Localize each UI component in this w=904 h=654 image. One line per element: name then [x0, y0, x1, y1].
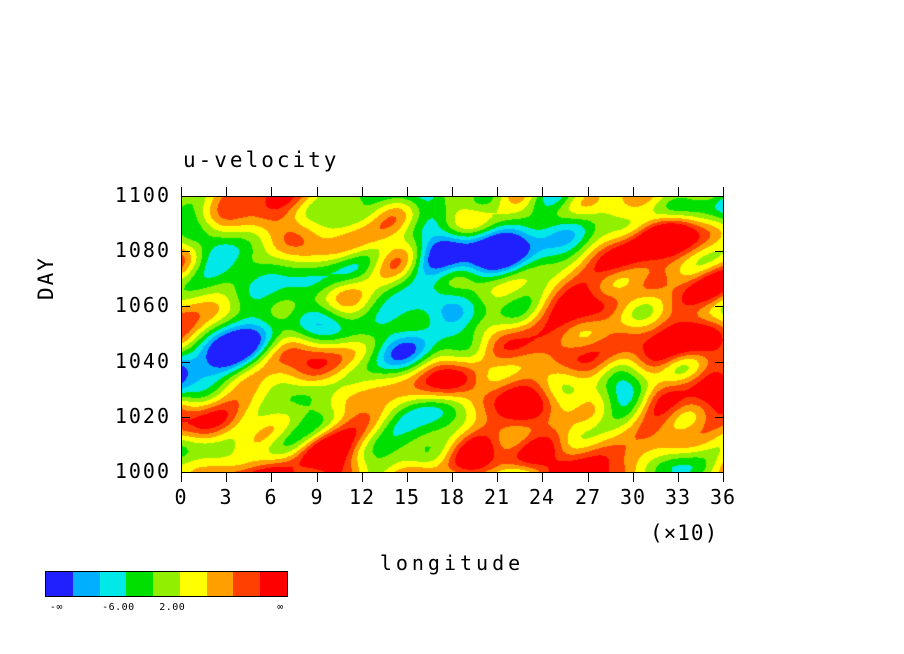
x-tick-top [723, 187, 724, 196]
colorbar-swatch [207, 572, 234, 596]
y-tick-label: 1060 [81, 293, 171, 317]
x-tick-bottom [362, 473, 363, 482]
y-tick-label: 1000 [81, 459, 171, 483]
y-tick-right [715, 472, 724, 473]
x-tick-bottom [317, 473, 318, 482]
y-tick-label: 1080 [81, 238, 171, 262]
colorbar-swatch [233, 572, 260, 596]
colorbar-swatch [260, 572, 287, 596]
x-tick-top [407, 187, 408, 196]
y-tick-left [181, 417, 190, 418]
y-tick-label: 1020 [81, 404, 171, 428]
x-tick-top [678, 187, 679, 196]
x-tick-top [497, 187, 498, 196]
x-tick-bottom [452, 473, 453, 482]
y-tick-right [715, 417, 724, 418]
y-tick-label: 1040 [81, 349, 171, 373]
y-tick-right [715, 196, 724, 197]
x-tick-label: 36 [693, 485, 753, 509]
x-tick-top [181, 187, 182, 196]
y-tick-left [181, 472, 190, 473]
colorbar-label: ∞ [277, 602, 284, 613]
colorbar-swatch [180, 572, 207, 596]
x-tick-bottom [633, 473, 634, 482]
y-tick-left [181, 196, 190, 197]
colorbar-label: -6.00 [102, 602, 135, 613]
y-tick-left [181, 362, 190, 363]
x-axis-multiplier: (×10) [650, 521, 718, 545]
y-tick-left [181, 306, 190, 307]
x-tick-bottom [588, 473, 589, 482]
x-tick-top [317, 187, 318, 196]
x-tick-bottom [678, 473, 679, 482]
x-tick-bottom [407, 473, 408, 482]
x-tick-top [633, 187, 634, 196]
colorbar-label: -∞ [50, 602, 63, 613]
x-tick-bottom [271, 473, 272, 482]
colorbar-swatch [46, 572, 73, 596]
colorbar-swatch [126, 572, 153, 596]
x-tick-top [588, 187, 589, 196]
x-tick-top [542, 187, 543, 196]
x-tick-bottom [497, 473, 498, 482]
y-axis-title: DAY [34, 256, 58, 300]
heatmap-canvas [182, 197, 723, 472]
x-tick-bottom [723, 473, 724, 482]
colorbar-swatch [100, 572, 127, 596]
colorbar [45, 571, 288, 597]
x-tick-bottom [542, 473, 543, 482]
chart-title: u-velocity [183, 148, 339, 172]
y-tick-label: 1100 [81, 183, 171, 207]
heatmap-plot-area [181, 196, 724, 473]
y-tick-right [715, 251, 724, 252]
x-tick-top [271, 187, 272, 196]
x-tick-top [362, 187, 363, 196]
colorbar-swatch [153, 572, 180, 596]
colorbar-label: 2.00 [159, 602, 185, 613]
y-tick-right [715, 362, 724, 363]
x-tick-top [452, 187, 453, 196]
chart-root: u-velocity 100010201040106010801100 0369… [0, 0, 904, 654]
x-tick-bottom [226, 473, 227, 482]
y-tick-left [181, 251, 190, 252]
x-tick-bottom [181, 473, 182, 482]
y-tick-right [715, 306, 724, 307]
x-tick-top [226, 187, 227, 196]
colorbar-swatch [73, 572, 100, 596]
